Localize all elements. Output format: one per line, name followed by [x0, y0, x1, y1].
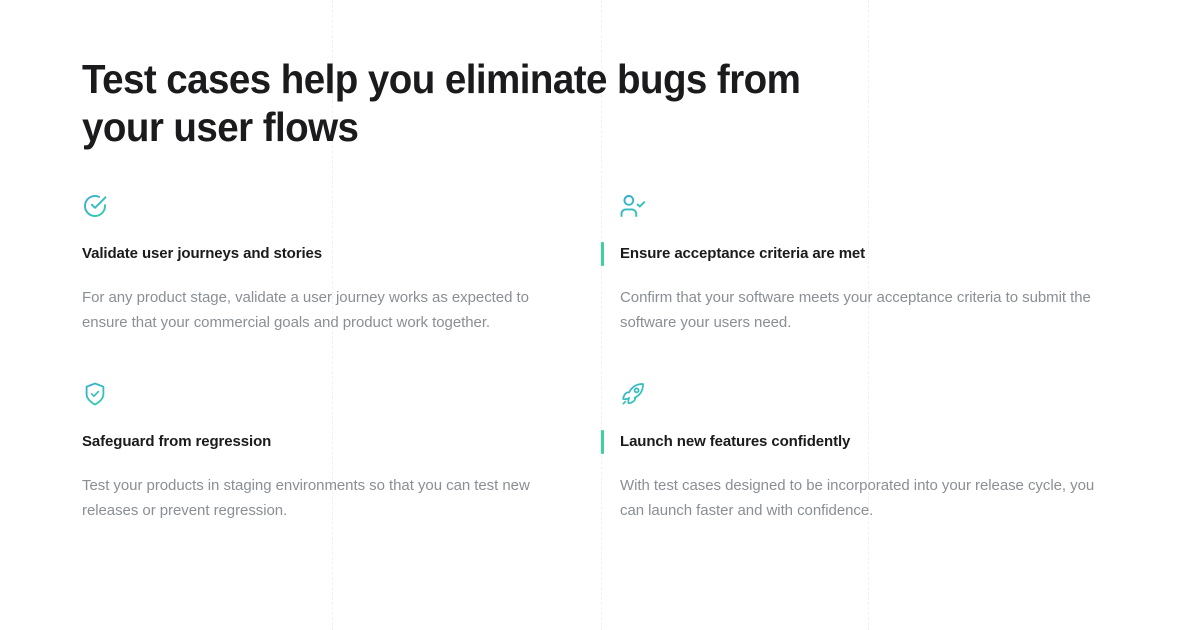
feature-card-acceptance-criteria: Ensure acceptance criteria are met Confi…: [620, 193, 1136, 381]
feature-title: Launch new features confidently: [620, 432, 1112, 452]
circle-check-icon: [82, 193, 108, 219]
feature-title: Safeguard from regression: [82, 432, 572, 452]
shield-check-icon: [82, 381, 108, 407]
feature-description: With test cases designed to be incorpora…: [620, 473, 1112, 523]
feature-section: Test cases help you eliminate bugs from …: [0, 0, 1200, 630]
feature-card-launch-features: Launch new features confidently With tes…: [620, 381, 1136, 569]
feature-description: Confirm that your software meets your ac…: [620, 285, 1112, 335]
feature-description: Test your products in staging environmen…: [82, 473, 572, 523]
feature-title: Ensure acceptance criteria are met: [620, 244, 1112, 264]
feature-title: Validate user journeys and stories: [82, 244, 572, 264]
feature-description: For any product stage, validate a user j…: [82, 285, 572, 335]
user-check-icon: [620, 193, 646, 219]
feature-card-safeguard-regression: Safeguard from regression Test your prod…: [82, 381, 620, 569]
page-title: Test cases help you eliminate bugs from …: [82, 55, 825, 151]
rocket-icon: [620, 381, 646, 407]
feature-grid: Validate user journeys and stories For a…: [82, 193, 1136, 569]
feature-card-validate-user-journeys: Validate user journeys and stories For a…: [82, 193, 620, 381]
